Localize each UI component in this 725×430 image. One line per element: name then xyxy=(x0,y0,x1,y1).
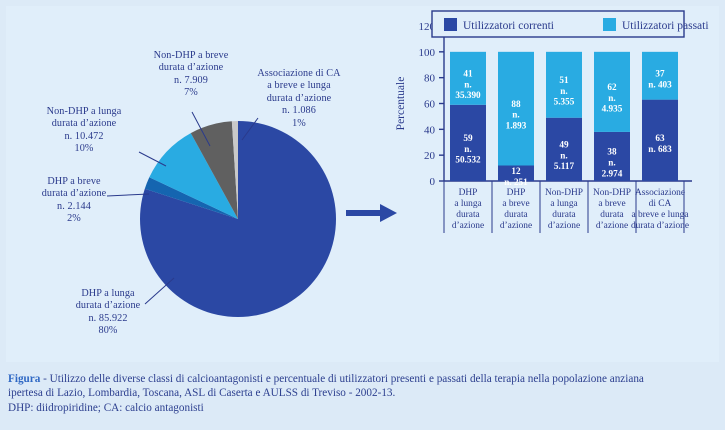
y-tick-label: 20 xyxy=(424,150,436,162)
bar-value-label-correnti: n. 683 xyxy=(648,144,672,154)
bar-value-label-correnti: n. xyxy=(560,150,567,160)
bar-value-label-passati: 1.893 xyxy=(506,120,527,130)
x-category-label: d’azione xyxy=(452,221,484,231)
bar-value-label-correnti: 50.532 xyxy=(455,155,481,165)
bar-value-label-correnti: 49 xyxy=(559,140,569,150)
x-category-label: a breve xyxy=(502,199,529,209)
x-category-label: d’azione xyxy=(548,221,580,231)
bar-value-label-passati: n. xyxy=(608,93,615,103)
bar-value-label-passati: 88 xyxy=(511,99,521,109)
x-category-label: DHP xyxy=(507,188,526,198)
caption-line-1-text: - Utilizzo delle diverse classi di calci… xyxy=(40,373,644,385)
bar-legend: Utilizzatori correntiUtilizzatori passat… xyxy=(432,11,709,37)
x-category-label: a lunga xyxy=(550,199,578,209)
caption-lead: Figura xyxy=(8,373,40,385)
bar-value-label-correnti: n. 251 xyxy=(504,177,528,187)
legend-label-passati: Utilizzatori passati xyxy=(622,20,709,32)
x-category-label: d’azione xyxy=(500,221,532,231)
y-tick-label: 0 xyxy=(430,176,436,188)
x-category-label: a breve e lunga xyxy=(631,210,689,220)
y-axis-title: Percentuale xyxy=(395,77,407,131)
x-category-label: di CA xyxy=(649,199,672,209)
bar-value-label-passati: 35.390 xyxy=(455,90,481,100)
x-category-label: d’azione xyxy=(596,221,628,231)
y-tick-label: 60 xyxy=(424,99,436,111)
bar-value-label-passati: n. 403 xyxy=(648,79,672,89)
bar-value-label-passati: 62 xyxy=(607,82,617,92)
bar-value-label-correnti: 63 xyxy=(655,133,665,143)
pie-label-nondhp-breve: Non-DHP a breve durata d’azione n. 7.909… xyxy=(132,50,250,100)
bar-value-label-correnti: 59 xyxy=(463,133,473,143)
x-category-label: durata xyxy=(552,210,576,220)
bar-value-label-passati: n. xyxy=(512,110,519,120)
pie-label-nondhp-lunga: Non-DHP a lunga durata d’azione n. 10.47… xyxy=(22,106,146,156)
x-category-label: a breve xyxy=(598,199,625,209)
bar-value-label-correnti: 2.974 xyxy=(602,168,623,178)
bar-value-label-passati: 41 xyxy=(463,69,473,79)
x-category-label: a lunga xyxy=(454,199,482,209)
bar-value-label-correnti: 12 xyxy=(511,166,521,176)
x-category-label: durata xyxy=(456,210,480,220)
bar-value-label-passati: n. xyxy=(560,86,567,96)
caption-line-2: ipertesa di Lazio, Lombardia, Toscana, A… xyxy=(8,386,720,400)
figure-caption: Figura - Utilizzo delle diverse classi d… xyxy=(8,372,720,415)
x-category-label: DHP xyxy=(459,188,478,198)
caption-line-1: Figura - Utilizzo delle diverse classi d… xyxy=(8,372,720,386)
bar-value-label-correnti: 5.117 xyxy=(554,161,575,171)
bar-chart: 020406080100120Percentuale59n.50.53241n.… xyxy=(384,6,719,362)
legend-label-correnti: Utilizzatori correnti xyxy=(463,20,554,32)
bar-value-label-passati: 37 xyxy=(655,69,665,79)
x-category-label: durata d’azione xyxy=(631,221,689,231)
bar-chart-svg: 020406080100120Percentuale59n.50.53241n.… xyxy=(384,6,719,362)
legend-swatch-correnti xyxy=(444,18,457,31)
bar-value-label-correnti: n. xyxy=(464,144,471,154)
bar-value-label-correnti: n. xyxy=(608,157,615,167)
bar-value-label-passati: 51 xyxy=(559,75,569,85)
x-category-label: Non-DHP xyxy=(545,188,583,198)
bar-value-label-passati: n. xyxy=(464,79,471,89)
y-tick-label: 40 xyxy=(424,124,436,136)
pie-chart: Non-DHP a breve durata d’azione n. 7.909… xyxy=(6,6,376,362)
x-category-label: Non-DHP xyxy=(593,188,631,198)
pie-label-dhp-lunga: DHP a lunga durata d’azione n. 85.922 80… xyxy=(42,288,174,338)
x-category-label: durata xyxy=(504,210,528,220)
bar-value-label-correnti: 38 xyxy=(607,147,617,157)
y-tick-label: 100 xyxy=(419,47,436,59)
pie-label-associazione: Associazione di CA a breve e lunga durat… xyxy=(244,68,354,130)
bar-plot-group: 020406080100120Percentuale59n.50.53241n.… xyxy=(395,11,709,233)
x-category-label: durata xyxy=(600,210,624,220)
y-tick-label: 80 xyxy=(424,73,436,85)
pie-label-dhp-breve: DHP a breve durata d’azione n. 2.144 2% xyxy=(12,176,136,226)
x-category-label: Associazione xyxy=(635,188,685,198)
legend-swatch-passati xyxy=(603,18,616,31)
bar-value-label-passati: 5.355 xyxy=(554,97,575,107)
bar-value-label-passati: 4.935 xyxy=(602,104,623,114)
caption-line-3: DHP: diidropiridine; CA: calcio antagoni… xyxy=(8,401,720,415)
figure-panel: Non-DHP a breve durata d’azione n. 7.909… xyxy=(6,6,719,362)
